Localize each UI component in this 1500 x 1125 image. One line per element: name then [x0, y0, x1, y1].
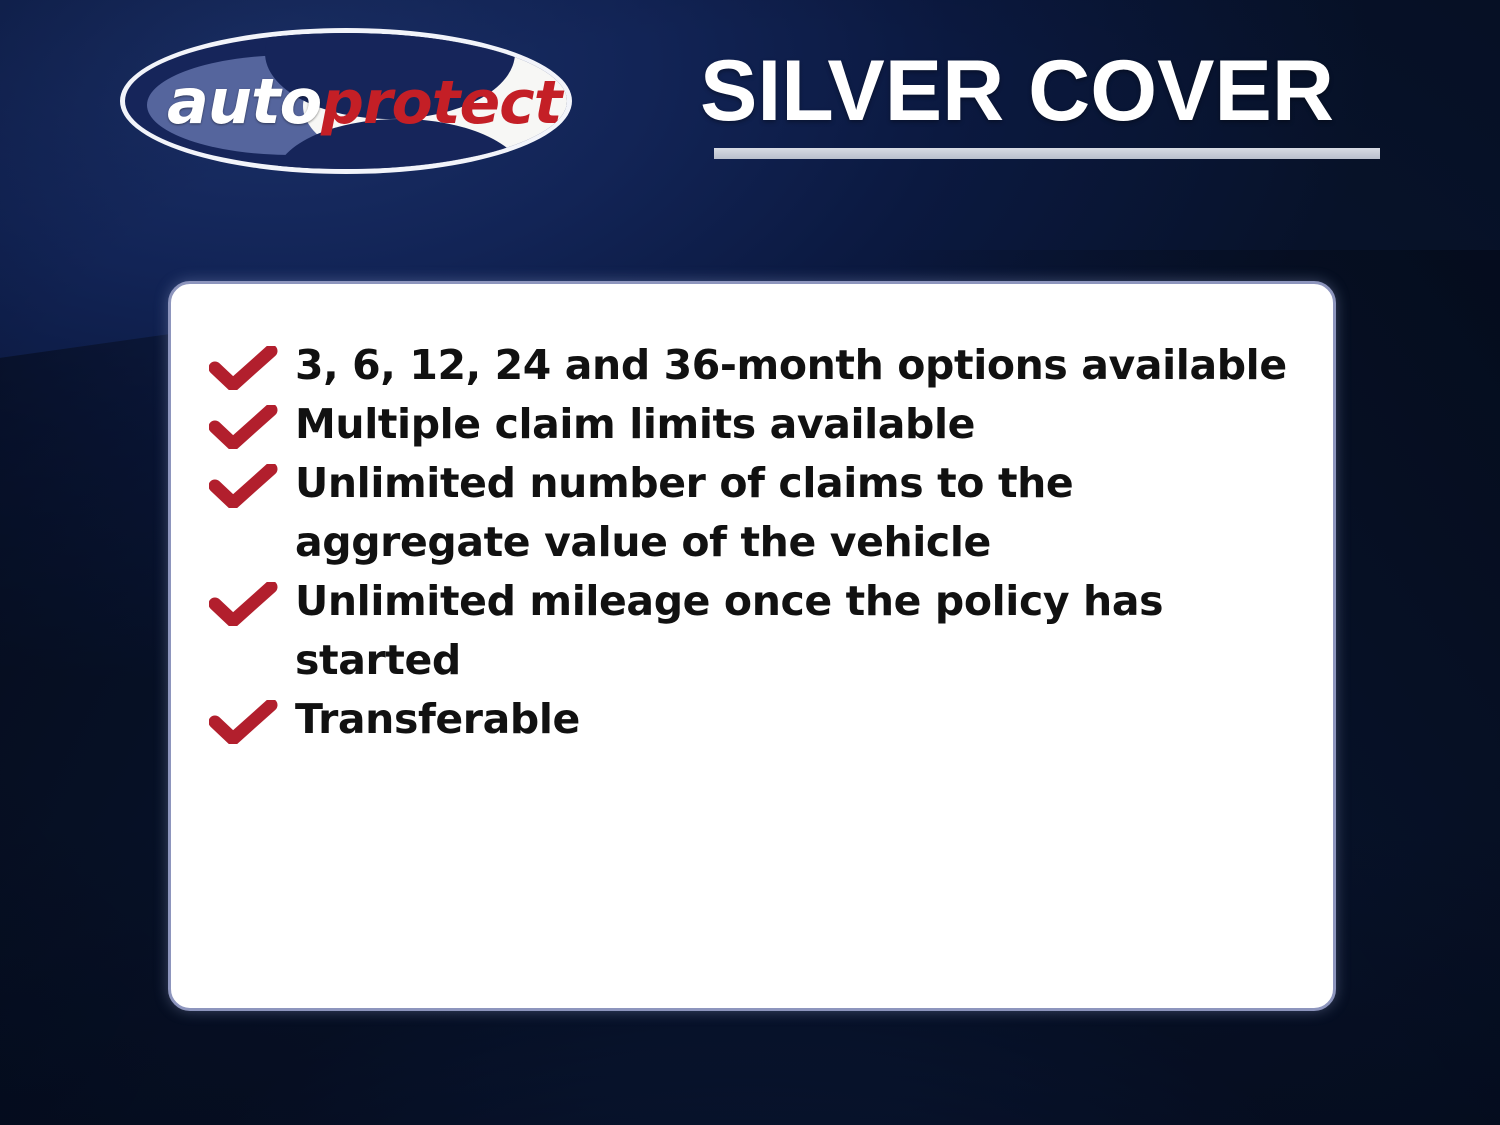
check-icon: [203, 454, 295, 508]
list-item: Unlimited number of claims to the aggreg…: [203, 454, 1303, 572]
feature-list: 3, 6, 12, 24 and 36-month options availa…: [203, 336, 1303, 749]
feature-text: Multiple claim limits available: [295, 395, 1303, 454]
logo-ellipse-ring: auto protect: [120, 28, 572, 174]
feature-text: Unlimited number of claims to the aggreg…: [295, 454, 1303, 572]
list-item: Multiple claim limits available: [203, 395, 1303, 454]
check-icon: [203, 572, 295, 626]
slide-root: auto protect SILVER COVER 3, 6, 12, 24 a…: [0, 0, 1500, 1125]
feature-text: Transferable: [295, 690, 1303, 749]
list-item: 3, 6, 12, 24 and 36-month options availa…: [203, 336, 1303, 395]
feature-text: 3, 6, 12, 24 and 36-month options availa…: [295, 336, 1303, 395]
check-icon: [203, 395, 295, 449]
list-item: Transferable: [203, 690, 1303, 749]
header: auto protect SILVER COVER: [0, 0, 1500, 210]
list-item: Unlimited mileage once the policy has st…: [203, 572, 1303, 690]
feature-text: Unlimited mileage once the policy has st…: [295, 572, 1303, 690]
features-card: 3, 6, 12, 24 and 36-month options availa…: [168, 281, 1336, 1011]
logo-text-protect: protect: [321, 73, 561, 133]
page-title: SILVER COVER: [700, 46, 1400, 136]
logo-text-auto: auto: [167, 71, 321, 133]
autoprotect-logo: auto protect: [120, 28, 572, 174]
check-icon: [203, 690, 295, 744]
check-icon: [203, 336, 295, 390]
title-underline-rule: [714, 148, 1380, 159]
